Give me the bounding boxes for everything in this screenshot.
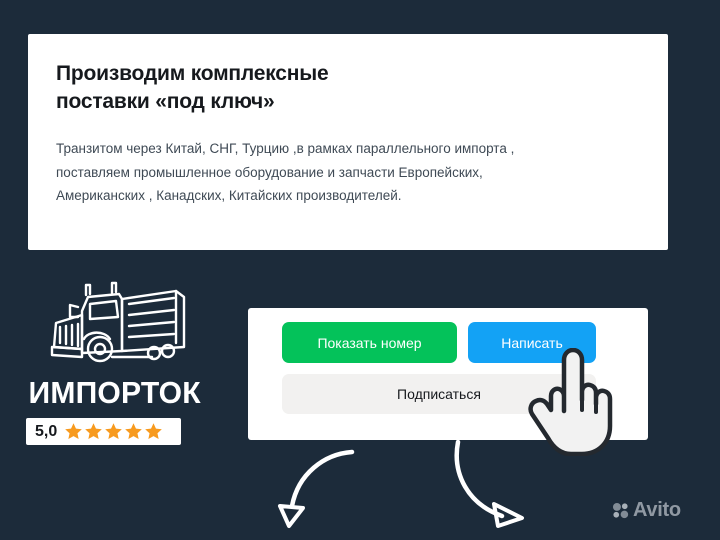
star-icon [64, 422, 83, 441]
truck-icon [26, 277, 194, 373]
show-number-button[interactable]: Показать номер [282, 322, 457, 363]
advertisement-canvas: Производим комплексные поставки «под клю… [0, 0, 720, 540]
rating-badge: 5,0 [26, 418, 181, 445]
rating-stars [64, 422, 163, 441]
page-title: Производим комплексные поставки «под клю… [56, 60, 640, 115]
rating-value: 5,0 [35, 424, 57, 440]
curved-arrow-left [268, 448, 356, 540]
star-icon [124, 422, 143, 441]
star-icon [144, 422, 163, 441]
star-icon [104, 422, 123, 441]
info-card-body-text: Транзитом через Китай, СНГ, Турцию ,в ра… [56, 137, 556, 207]
company-logo-block: ИМПОРТОК 5,0 [26, 277, 194, 445]
brand-name: ИМПОРТОК [29, 375, 192, 411]
star-icon [84, 422, 103, 441]
pointing-hand-cursor [524, 348, 616, 456]
avito-watermark: Avito [612, 500, 681, 520]
info-card: Производим комплексные поставки «под клю… [28, 34, 668, 250]
avito-wordmark: Avito [633, 500, 681, 520]
avito-dots-icon [612, 502, 629, 519]
